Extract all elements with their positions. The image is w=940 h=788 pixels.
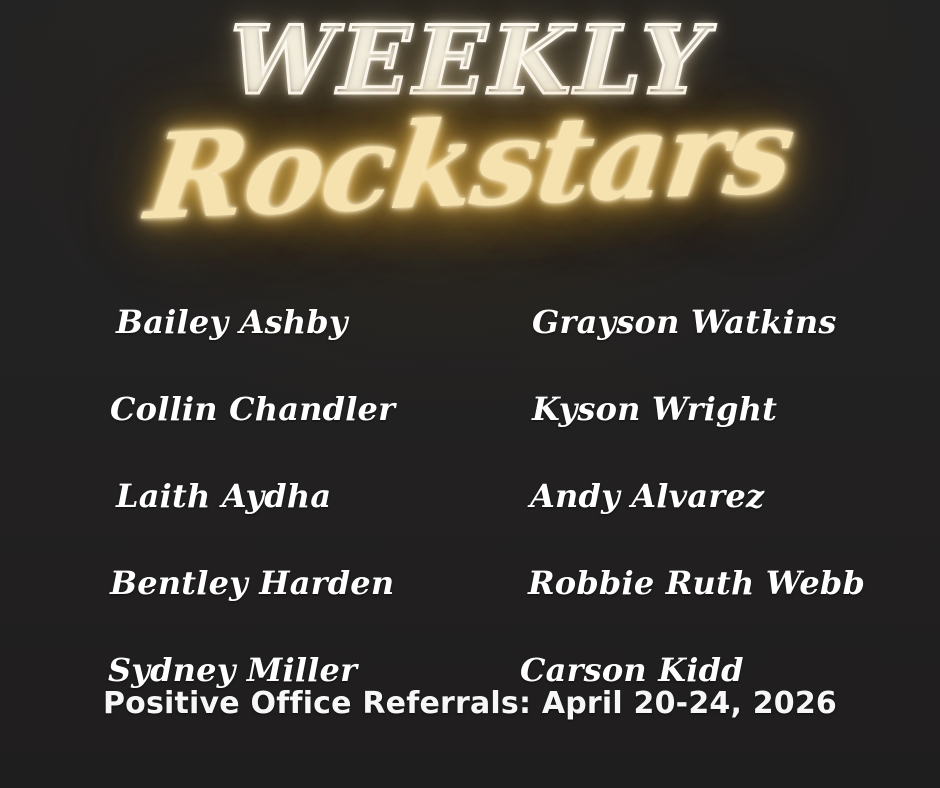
honoree-name: Robbie Ruth Webb: [420, 564, 940, 602]
honoree-name: Grayson Watkins: [420, 303, 940, 341]
honoree-name: Kyson Wright: [420, 390, 940, 428]
honoree-name: Bentley Harden: [0, 564, 420, 602]
name-row: Bentley Harden Robbie Ruth Webb: [0, 539, 940, 626]
name-row: Bailey Ashby Grayson Watkins: [0, 278, 940, 365]
weekly-rockstars-poster: WEEKLY Rockstars Bailey Ashby Grayson Wa…: [0, 0, 940, 788]
honoree-name: Bailey Ashby: [0, 303, 420, 341]
neon-sign-header: WEEKLY Rockstars: [0, 0, 940, 265]
honoree-name: Laith Aydha: [0, 477, 420, 515]
honoree-name: Collin Chandler: [0, 390, 420, 428]
honoree-name: Andy Alvarez: [420, 477, 940, 515]
honoree-list: Bailey Ashby Grayson Watkins Collin Chan…: [0, 278, 940, 713]
name-row: Laith Aydha Andy Alvarez: [0, 452, 940, 539]
honoree-name: Carson Kidd: [420, 651, 940, 689]
headline-rockstars: Rockstars: [140, 83, 801, 245]
footer-caption: Positive Office Referrals: April 20-24, …: [0, 686, 940, 721]
headline-script-wrap: Rockstars: [0, 96, 940, 232]
honoree-name: Sydney Miller: [0, 651, 420, 689]
name-row: Collin Chandler Kyson Wright: [0, 365, 940, 452]
